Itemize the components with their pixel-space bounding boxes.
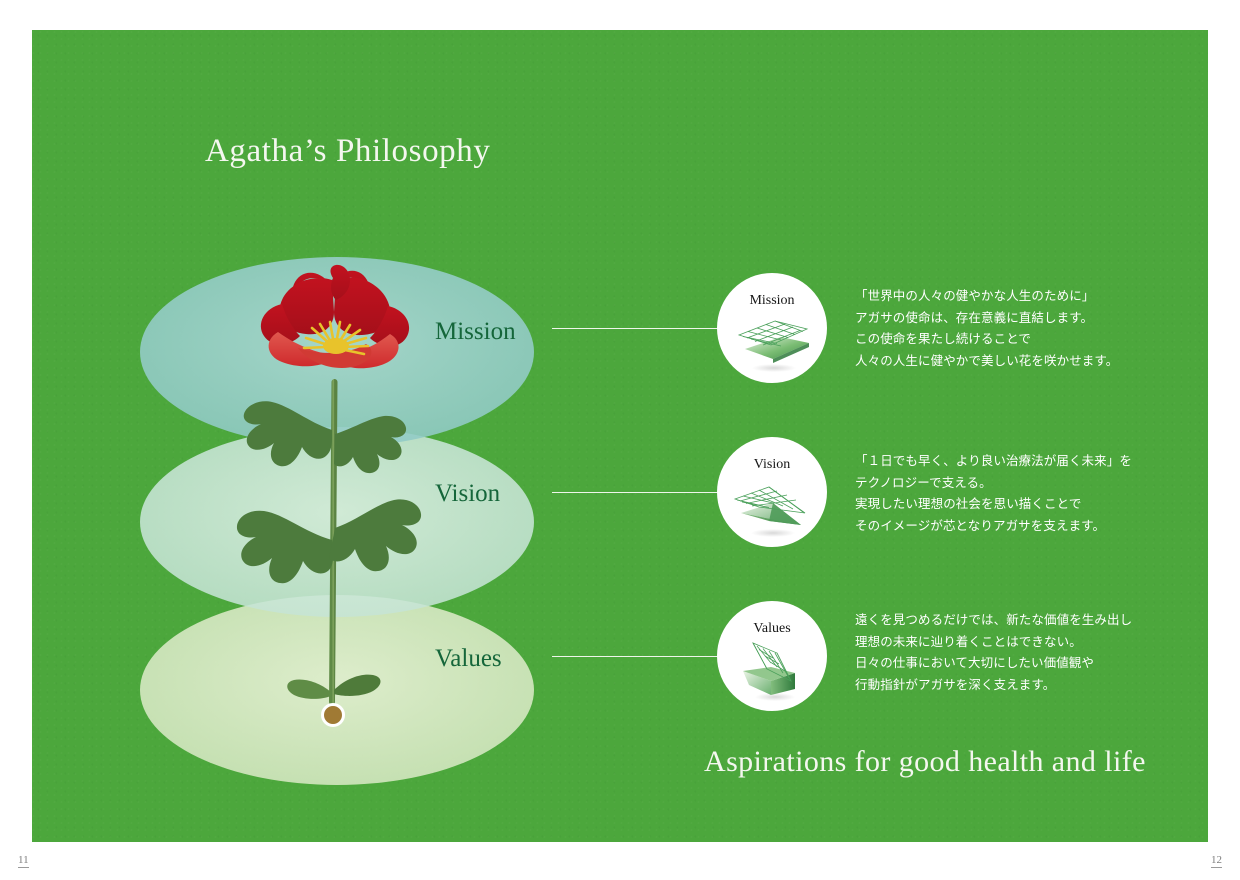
description-line: 遠くを見つめるだけでは、新たな価値を生み出し <box>855 610 1132 632</box>
page-number-left: 11 <box>18 855 29 868</box>
connector-line-vision <box>552 492 742 493</box>
layer-label-mission: Mission <box>435 318 516 346</box>
grid-pyramid-icon <box>729 473 815 537</box>
poppy-center <box>323 338 349 354</box>
grid-plane-icon <box>729 309 815 373</box>
badge-mission: Mission <box>717 273 827 383</box>
badge-title-mission: Mission <box>717 293 827 309</box>
page-number-right: 12 <box>1211 855 1222 868</box>
description-values: 遠くを見つめるだけでは、新たな価値を生み出し 理想の未来に辿り着くことはできない… <box>855 610 1132 696</box>
description-line: この使命を果たし続けることで <box>855 329 1118 351</box>
page-tagline: Aspirations for good health and life <box>704 745 1146 779</box>
description-line: 人々の人生に健やかで美しい花を咲かせます。 <box>855 351 1118 373</box>
description-line: 日々の仕事において大切にしたい価値観や <box>855 653 1132 675</box>
description-line: 実現したい理想の社会を思い描くことで <box>855 494 1132 516</box>
badge-title-vision: Vision <box>717 457 827 473</box>
connector-line-mission <box>552 328 742 329</box>
description-line: アガサの使命は、存在意義に直結します。 <box>855 308 1118 330</box>
description-line: テクノロジーで支える。 <box>855 473 1132 495</box>
connector-line-values <box>552 656 742 657</box>
description-mission: 「世界中の人々の健やかな人生のために」 アガサの使命は、存在意義に直結します。 … <box>855 286 1118 372</box>
badge-vision: Vision <box>717 437 827 547</box>
badge-values: Values <box>717 601 827 711</box>
grid-prism-icon <box>729 637 815 701</box>
badge-title-values: Values <box>717 621 827 637</box>
brochure-spread: Agatha’s Philosophy Mission Vision Value… <box>32 30 1208 842</box>
description-line: 「世界中の人々の健やかな人生のために」 <box>855 286 1118 308</box>
layer-label-values: Values <box>435 645 502 673</box>
description-line: 理想の未来に辿り着くことはできない。 <box>855 632 1132 654</box>
poppy-seed <box>323 705 344 726</box>
description-vision: 「１日でも早く、より良い治療法が届く未来」を テクノロジーで支える。 実現したい… <box>855 451 1132 537</box>
description-line: 「１日でも早く、より良い治療法が届く未来」を <box>855 451 1132 473</box>
layer-label-vision: Vision <box>435 480 500 508</box>
page-title: Agatha’s Philosophy <box>205 133 491 170</box>
description-line: そのイメージが芯となりアガサを支えます。 <box>855 516 1132 538</box>
description-line: 行動指針がアガサを深く支えます。 <box>855 675 1132 697</box>
